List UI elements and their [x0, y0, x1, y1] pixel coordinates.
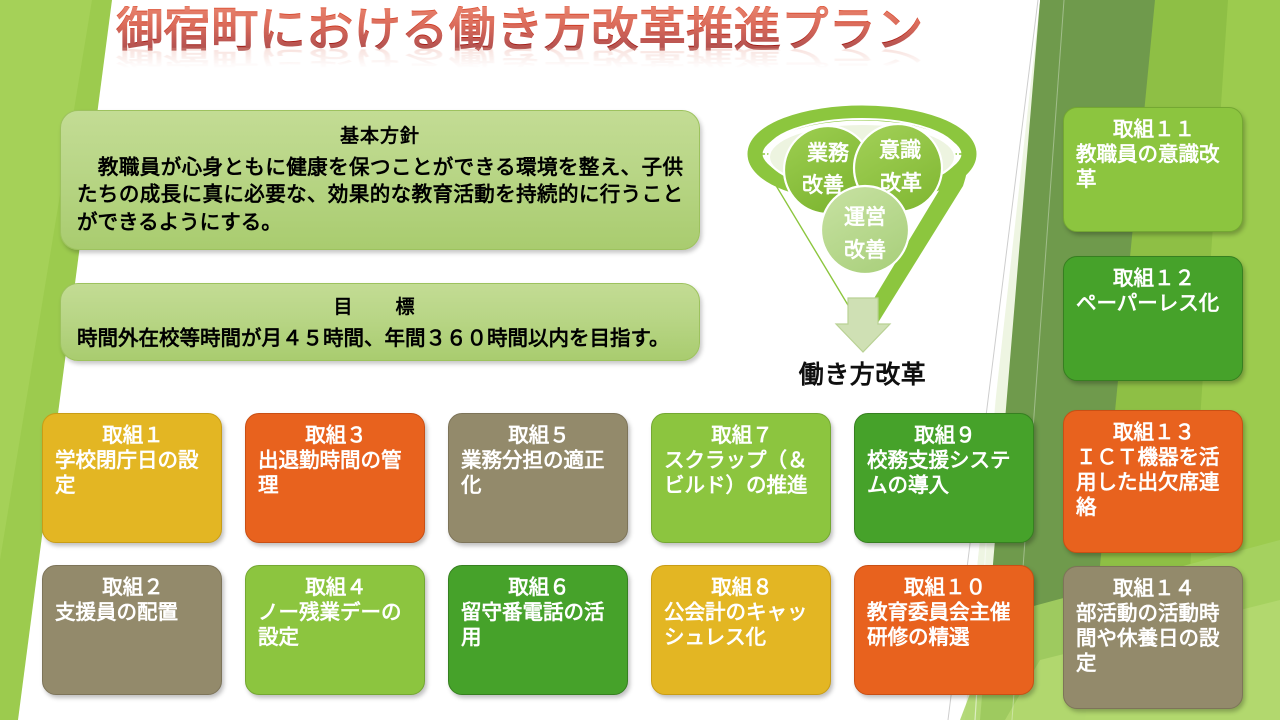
page-title: 御宿町における働き方改革推進プラン [116, 6, 924, 55]
measure-tile-11-text: 教職員の意識改革 [1076, 142, 1232, 192]
funnel-sphere-2-line1: 意識 [879, 139, 921, 162]
basic-policy-text: 教職員が心身ともに健康を保つことができる環境を整え、子供たちの成長に真に必要な、… [77, 154, 683, 236]
measure-tile-8[interactable]: 取組８ 公会計のキャッシュレス化 [651, 565, 831, 695]
measure-tile-4[interactable]: 取組４ ノー残業デーの設定 [245, 565, 425, 695]
funnel-sphere-3-line1: 運営 [844, 205, 886, 229]
measure-tile-9-text: 校務支援システムの導入 [867, 448, 1023, 498]
measure-tile-10-text: 教育委員会主催研修の精選 [867, 600, 1023, 650]
measure-tile-5[interactable]: 取組５ 業務分担の適正化 [448, 413, 628, 543]
measure-tile-3-text: 出退勤時間の管理 [258, 448, 414, 498]
measure-tile-7-number: 取組７ [664, 423, 820, 448]
measure-tile-6-text: 留守番電話の活用 [461, 600, 617, 650]
measure-tile-7[interactable]: 取組７ スクラップ（＆ビルド）の推進 [651, 413, 831, 543]
measure-tile-14-text: 部活動の活動時間や休養日の設定 [1076, 601, 1232, 676]
goal-heading: 目 標 [77, 292, 683, 319]
slide-title-container: 御宿町における働き方改革推進プラン 御宿町における働き方改革推進プラン [0, 6, 1040, 92]
slide-canvas: 御宿町における働き方改革推進プラン 御宿町における働き方改革推進プラン 基本方針… [0, 0, 1280, 720]
measure-tile-14-number: 取組１４ [1076, 576, 1232, 601]
funnel-diagram: 業務 改善 意識 改革 運営 改善 [735, 102, 990, 357]
measure-tile-3-number: 取組３ [258, 423, 414, 448]
measure-tile-12[interactable]: 取組１２ ペーパーレス化 [1063, 256, 1243, 381]
goal-text: 時間外在校等時間が月４５時間、年間３６０時間以内を目指す。 [77, 325, 683, 352]
measure-tile-11-number: 取組１１ [1076, 117, 1232, 142]
measure-tile-13-number: 取組１３ [1076, 420, 1232, 445]
measure-tile-13[interactable]: 取組１３ ＩＣＴ機器を活用した出欠席連絡 [1063, 410, 1243, 553]
measure-tile-8-text: 公会計のキャッシュレス化 [664, 600, 820, 650]
measure-tile-2-text: 支援員の配置 [55, 600, 211, 625]
measure-tile-5-number: 取組５ [461, 423, 617, 448]
measure-tile-2-number: 取組２ [55, 575, 211, 600]
measure-tile-6-number: 取組６ [461, 575, 617, 600]
measure-tile-4-number: 取組４ [258, 575, 414, 600]
measure-tile-12-text: ペーパーレス化 [1076, 291, 1232, 316]
basic-policy-heading: 基本方針 [77, 121, 683, 148]
measure-tile-5-text: 業務分担の適正化 [461, 448, 617, 498]
funnel-sphere-1-line2: 改善 [802, 173, 844, 197]
measure-tile-1[interactable]: 取組１ 学校閉庁日の設定 [42, 413, 222, 543]
measure-tile-7-text: スクラップ（＆ビルド）の推進 [664, 448, 820, 498]
measure-tile-11[interactable]: 取組１１ 教職員の意識改革 [1063, 107, 1243, 232]
measure-tile-4-text: ノー残業デーの設定 [258, 600, 414, 650]
measure-tile-10[interactable]: 取組１０ 教育委員会主催研修の精選 [854, 565, 1034, 695]
measure-tile-6[interactable]: 取組６ 留守番電話の活用 [448, 565, 628, 695]
measure-tile-13-text: ＩＣＴ機器を活用した出欠席連絡 [1076, 445, 1232, 520]
basic-policy-box: 基本方針 教職員が心身ともに健康を保つことができる環境を整え、子供たちの成長に真… [60, 110, 700, 250]
measure-tile-9[interactable]: 取組９ 校務支援システムの導入 [854, 413, 1034, 543]
measure-tile-8-number: 取組８ [664, 575, 820, 600]
measure-tile-2[interactable]: 取組２ 支援員の配置 [42, 565, 222, 695]
measure-tile-1-number: 取組１ [55, 423, 211, 448]
funnel-sphere-1-line1: 業務 [807, 141, 850, 165]
funnel-sphere-3-line2: 改善 [844, 238, 886, 262]
measure-tile-10-number: 取組１０ [867, 575, 1023, 600]
measure-tile-1-text: 学校閉庁日の設定 [55, 448, 211, 498]
measure-tile-12-number: 取組１２ [1076, 266, 1232, 291]
goal-box: 目 標 時間外在校等時間が月４５時間、年間３６０時間以内を目指す。 [60, 283, 700, 361]
measure-tile-3[interactable]: 取組３ 出退勤時間の管理 [245, 413, 425, 543]
measure-tile-14[interactable]: 取組１４ 部活動の活動時間や休養日の設定 [1063, 566, 1243, 709]
funnel-sphere-2-line2: 改革 [880, 171, 922, 195]
measure-tile-9-number: 取組９ [867, 423, 1023, 448]
funnel-caption: 働き方改革 [735, 355, 990, 391]
